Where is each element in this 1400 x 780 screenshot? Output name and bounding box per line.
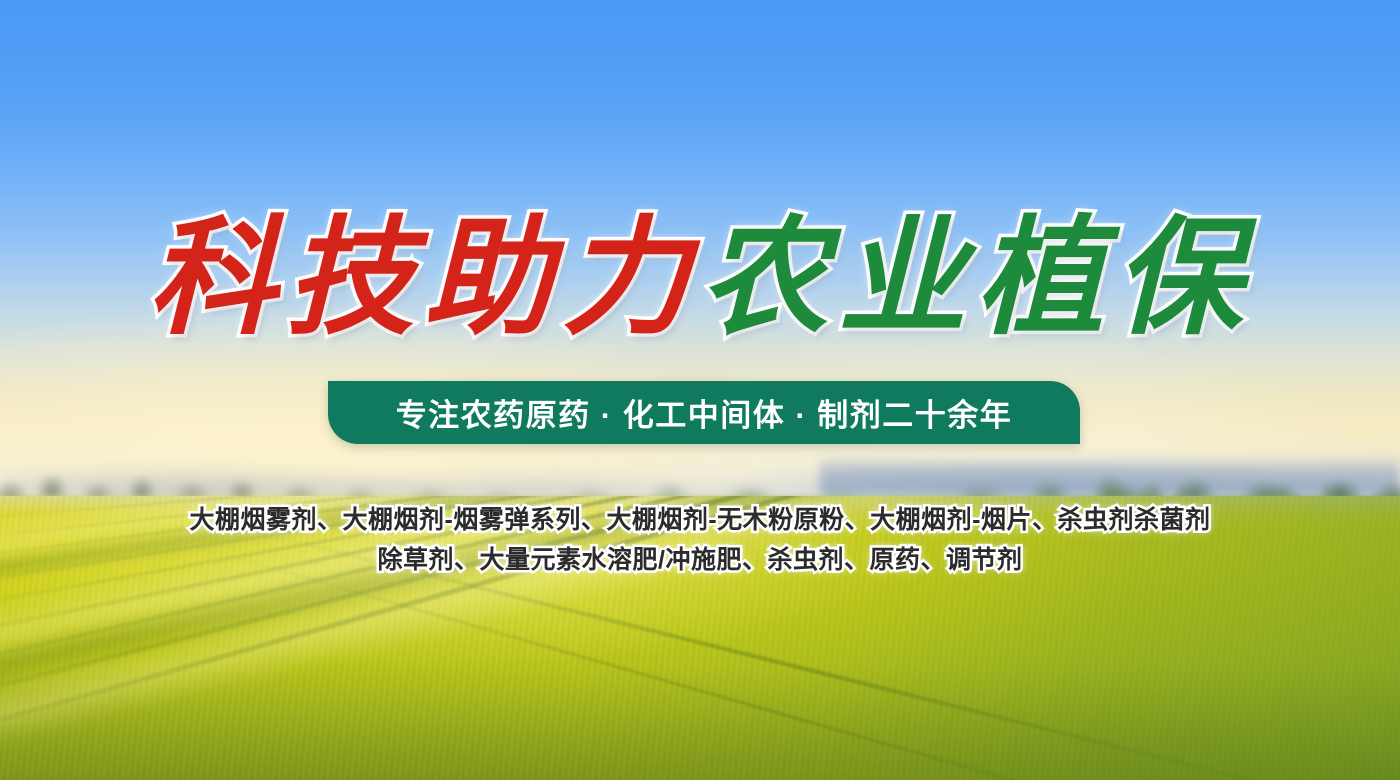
product-list: 大棚烟雾剂、大棚烟剂-烟雾弹系列、大棚烟剂-无木粉原粉、大棚烟剂-烟片、杀虫剂杀… bbox=[0, 500, 1400, 580]
product-line-1: 大棚烟雾剂、大棚烟剂-烟雾弹系列、大棚烟剂-无木粉原粉、大棚烟剂-烟片、杀虫剂杀… bbox=[0, 500, 1400, 540]
subtitle-text: 专注农药原药 · 化工中间体 · 制剂二十余年 bbox=[396, 390, 1013, 435]
headline: 科技助力农业植保 bbox=[0, 200, 1400, 356]
subtitle-bar: 专注农药原药 · 化工中间体 · 制剂二十余年 bbox=[328, 381, 1080, 444]
headline-red-text: 科技助力 bbox=[148, 200, 700, 356]
headline-green-text: 农业植保 bbox=[700, 200, 1252, 356]
promotional-banner: 科技助力农业植保 专注农药原药 · 化工中间体 · 制剂二十余年 大棚烟雾剂、大… bbox=[0, 0, 1400, 780]
product-line-2: 除草剂、大量元素水溶肥/冲施肥、杀虫剂、原药、调节剂 bbox=[0, 540, 1400, 580]
